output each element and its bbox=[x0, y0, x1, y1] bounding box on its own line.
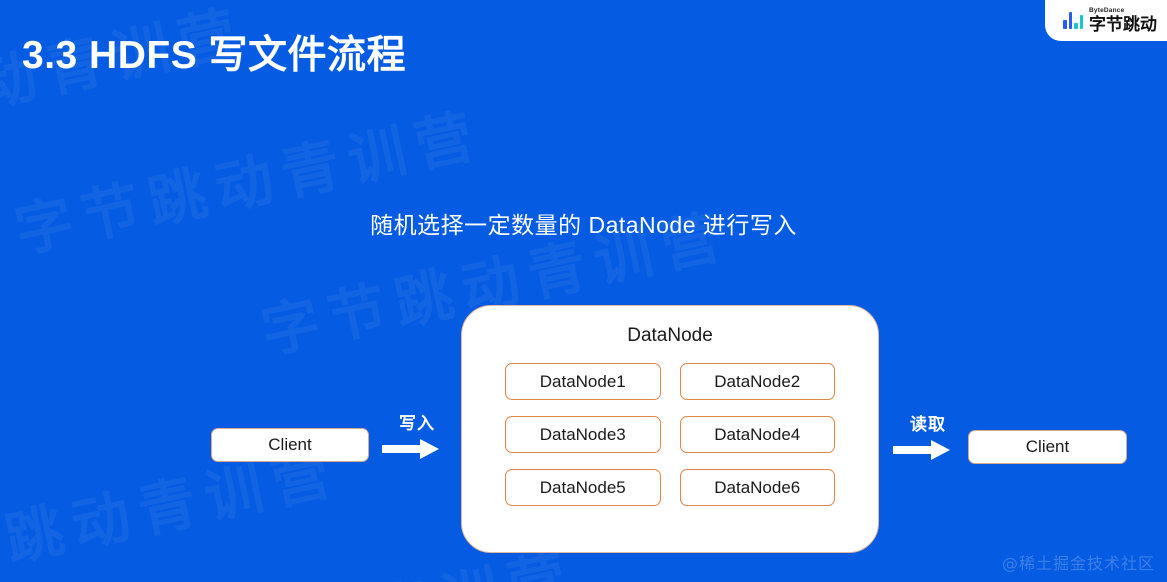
brand-name-cn: 字节跳动 bbox=[1089, 16, 1157, 33]
arrow-right-icon bbox=[893, 439, 951, 461]
slide-subtitle: 随机选择一定数量的 DataNode 进行写入 bbox=[0, 206, 1167, 240]
bytedance-logo-card: ByteDance 字节跳动 bbox=[1045, 0, 1167, 41]
arrow-right-icon bbox=[382, 438, 440, 460]
datanode-label: DataNode3 bbox=[540, 425, 626, 445]
datanode-box: DataNode3 bbox=[505, 416, 661, 453]
client-box-right: Client bbox=[968, 430, 1127, 464]
datanode-card-title: DataNode bbox=[462, 325, 878, 347]
datanode-label: DataNode6 bbox=[714, 478, 800, 498]
slide-canvas: 字节跳动青训营 字节跳动青训营 字节跳动青训营 字节跳动青训营 字节跳动青训营 … bbox=[0, 0, 1167, 582]
read-arrow-group: 读取 bbox=[893, 415, 963, 461]
datanode-label: DataNode4 bbox=[714, 425, 800, 445]
datanode-label: DataNode1 bbox=[540, 372, 626, 392]
brand-text: ByteDance 字节跳动 bbox=[1089, 8, 1157, 33]
client-left-label: Client bbox=[268, 435, 311, 455]
datanode-label: DataNode2 bbox=[714, 372, 800, 392]
datanode-box: DataNode1 bbox=[505, 363, 661, 400]
bytedance-bars-icon bbox=[1063, 12, 1083, 29]
corner-watermark: @稀土掘金技术社区 bbox=[1002, 550, 1155, 574]
datanode-box: DataNode6 bbox=[680, 469, 836, 506]
datanode-label: DataNode5 bbox=[540, 478, 626, 498]
page-title: 3.3 HDFS 写文件流程 bbox=[22, 24, 406, 80]
datanode-cluster-card: DataNode DataNode1 DataNode2 DataNode3 D… bbox=[461, 305, 879, 553]
brand-name-en: ByteDance bbox=[1089, 8, 1157, 15]
read-arrow-label: 读取 bbox=[893, 415, 963, 435]
datanode-grid: DataNode1 DataNode2 DataNode3 DataNode4 … bbox=[462, 347, 878, 506]
client-right-label: Client bbox=[1026, 437, 1069, 457]
datanode-box: DataNode4 bbox=[680, 416, 836, 453]
datanode-box: DataNode5 bbox=[505, 469, 661, 506]
datanode-box: DataNode2 bbox=[680, 363, 836, 400]
write-arrow-label: 写入 bbox=[382, 414, 452, 434]
client-box-left: Client bbox=[211, 428, 369, 462]
write-arrow-group: 写入 bbox=[382, 414, 452, 460]
